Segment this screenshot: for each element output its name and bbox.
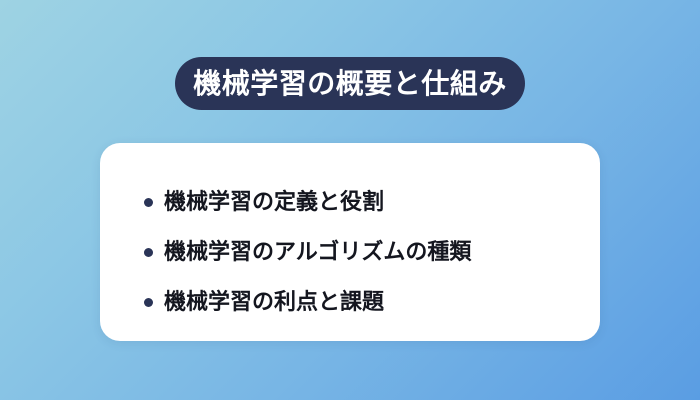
list-item-label: 機械学習の定義と役割 [164, 190, 384, 214]
list-item-label: 機械学習の利点と課題 [164, 290, 384, 314]
list-item-label: 機械学習のアルゴリズムの種類 [164, 240, 471, 264]
bullet-dot-icon [144, 248, 153, 257]
bullet-list: 機械学習の定義と役割 機械学習のアルゴリズムの種類 機械学習の利点と課題 [144, 177, 560, 327]
slide-canvas: 機械学習の概要と仕組み 機械学習の定義と役割 機械学習のアルゴリズムの種類 機械… [0, 0, 700, 400]
bullet-dot-icon [144, 198, 153, 207]
slide-title-pill: 機械学習の概要と仕組み [175, 57, 525, 110]
content-card: 機械学習の定義と役割 機械学習のアルゴリズムの種類 機械学習の利点と課題 [100, 143, 600, 341]
page-title: 機械学習の概要と仕組み [193, 70, 507, 98]
bullet-dot-icon [144, 298, 153, 307]
list-item: 機械学習の定義と役割 [144, 177, 560, 227]
list-item: 機械学習の利点と課題 [144, 277, 560, 327]
list-item: 機械学習のアルゴリズムの種類 [144, 227, 560, 277]
